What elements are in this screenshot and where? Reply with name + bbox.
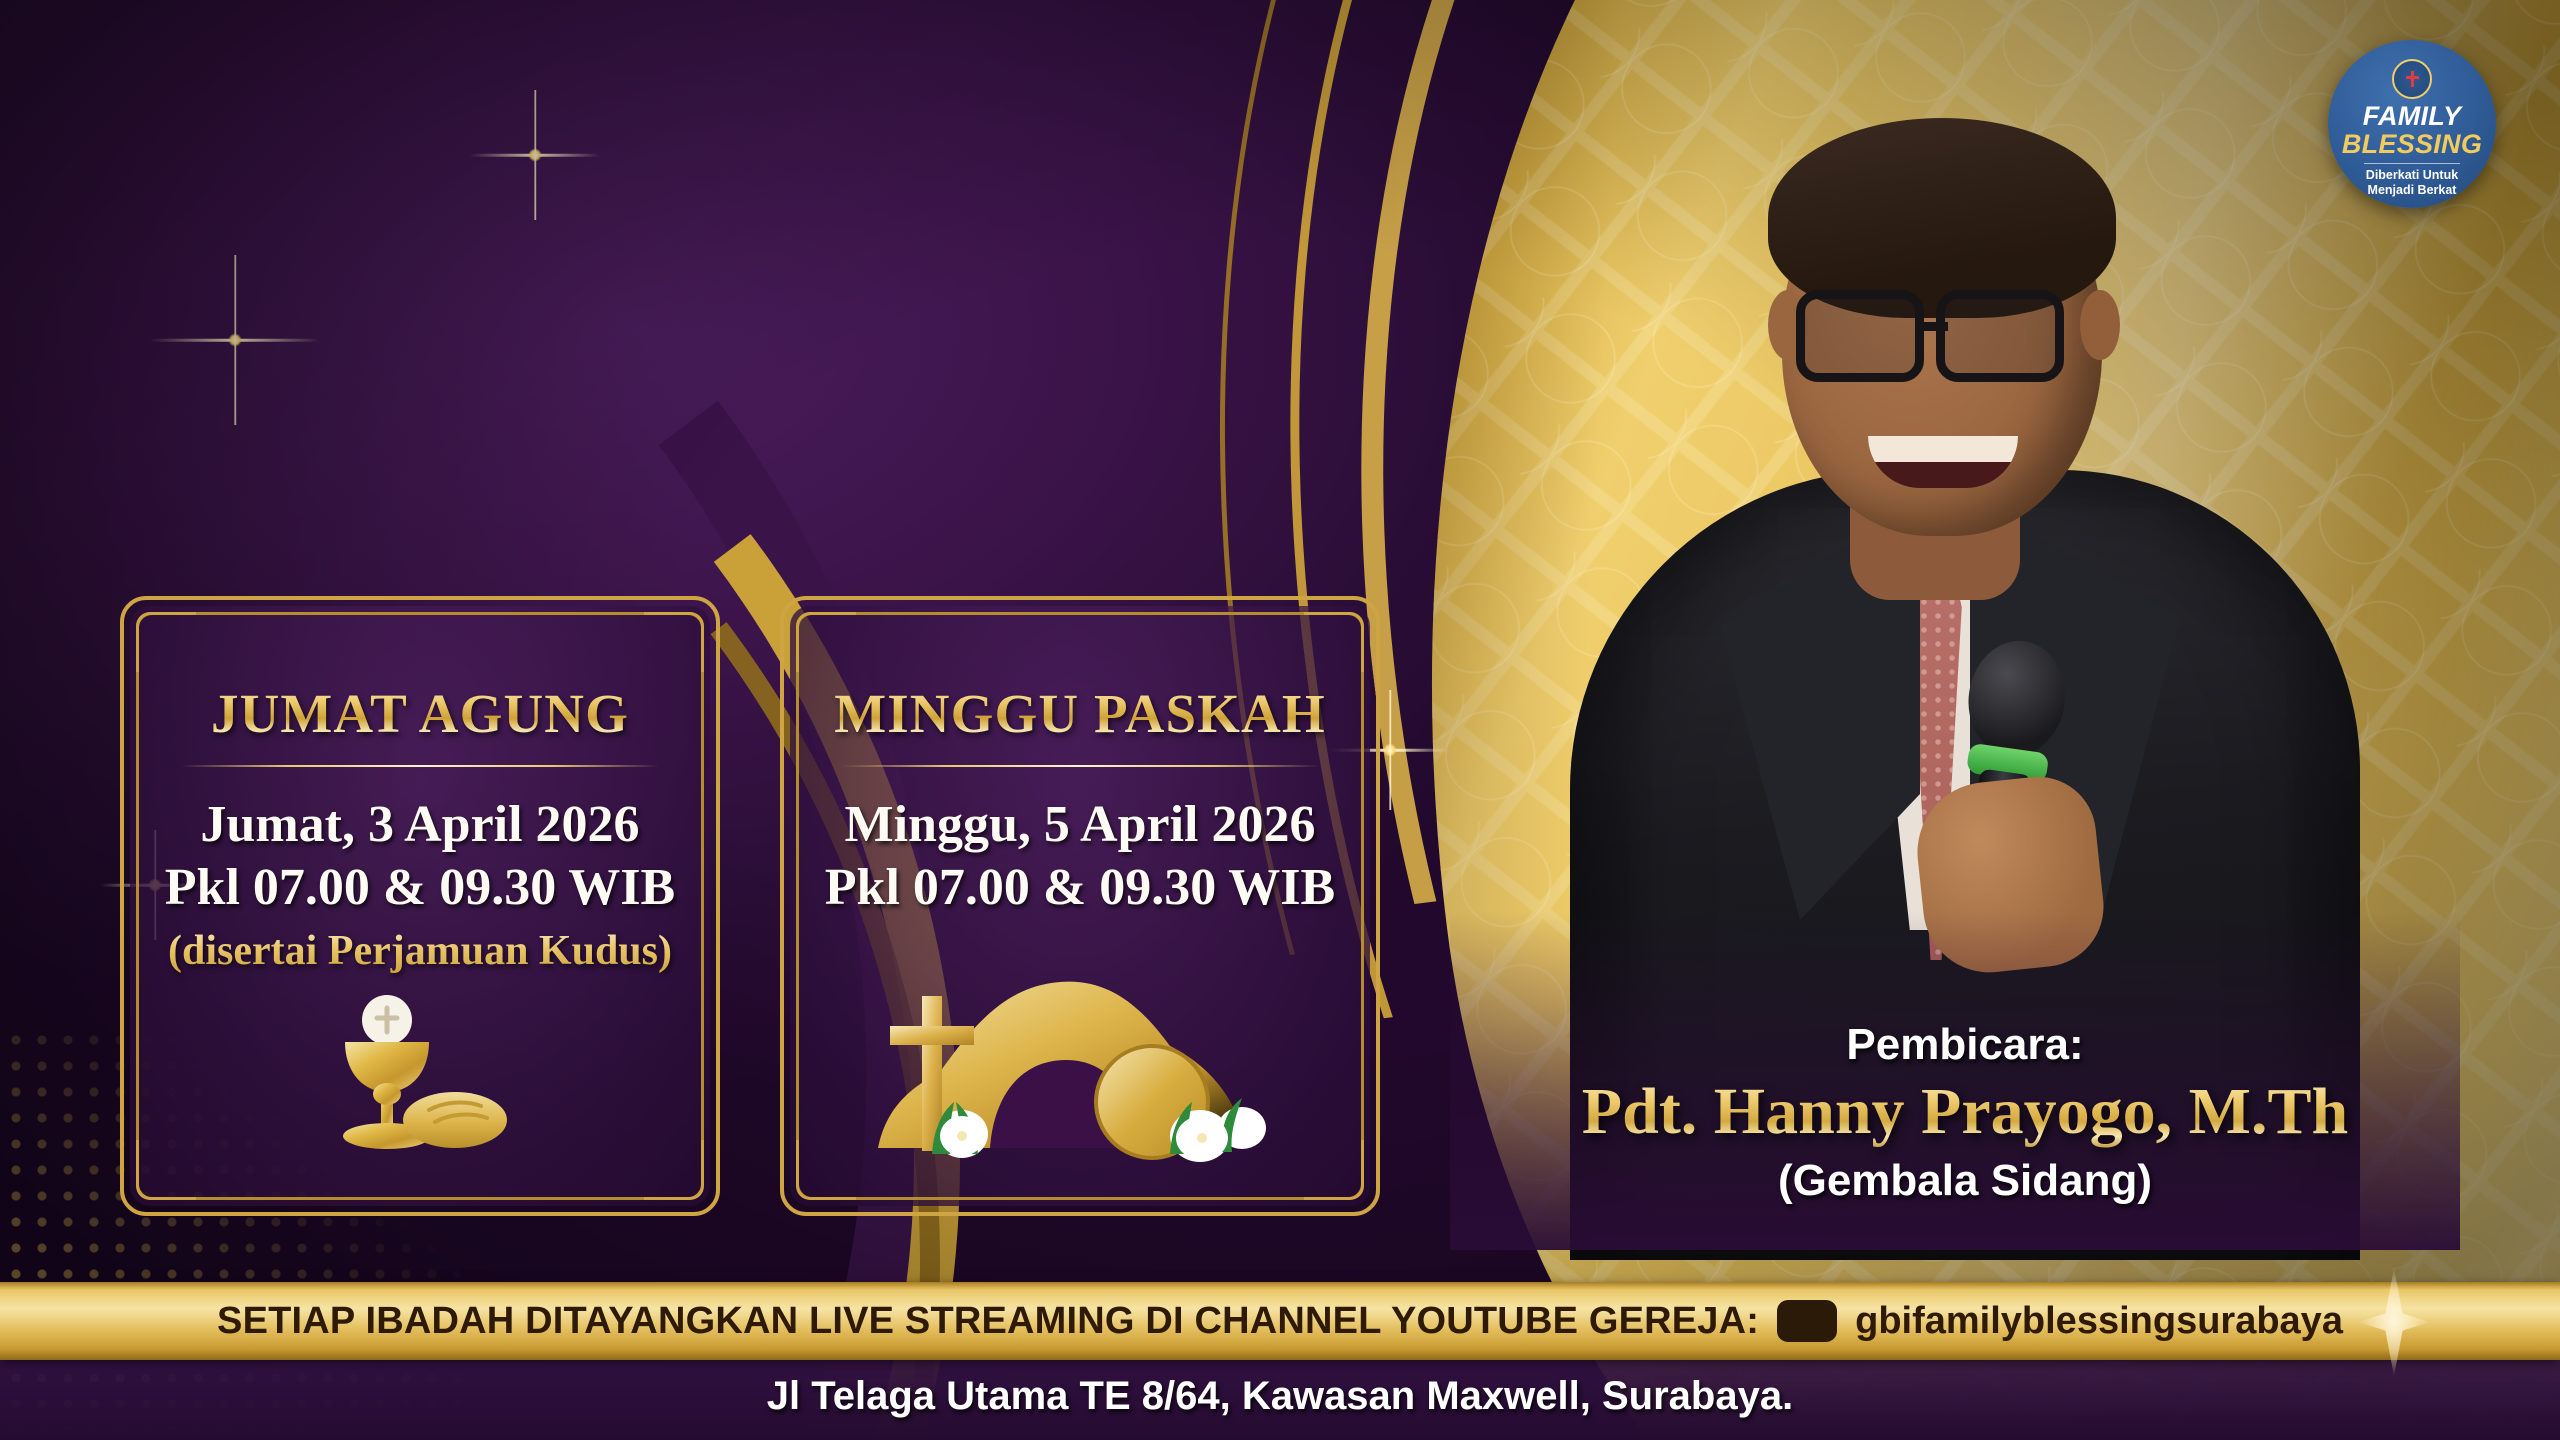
live-streaming-banner: SETIAP IBADAH DITAYANGKAN LIVE STREAMING… [0, 1282, 2560, 1360]
card-divider [181, 765, 659, 767]
service-card-jumat-agung: JUMAT AGUNG Jumat, 3 April 2026 Pkl 07.0… [120, 596, 720, 1216]
card-heading: MINGGU PASKAH [802, 682, 1358, 745]
youtube-handle[interactable]: gbifamilyblessingsurabaya [1855, 1300, 2343, 1343]
card-divider [841, 765, 1319, 767]
church-address: Jl Telaga Utama TE 8/64, Kawasan Maxwell… [0, 1374, 2560, 1419]
title-line-3: MINGGU PASKAH [90, 350, 1420, 501]
card-note: (disertai Perjamuan Kudus) [142, 926, 698, 976]
title-line-1: IBADAH [90, 86, 1420, 217]
logo-tagline-2: Menjadi Berkat [2368, 183, 2457, 198]
sparkle-diamond-icon [2358, 1268, 2430, 1376]
poster-canvas: FAMILY BLESSING Diberkati Untuk Menjadi … [0, 0, 2560, 1440]
logo-line-family: FAMILY [2363, 103, 2462, 130]
card-time: Pkl 07.00 & 09.30 WIB [142, 856, 698, 919]
card-date: Jumat, 3 April 2026 [142, 793, 698, 856]
youtube-play-icon[interactable] [1777, 1300, 1837, 1342]
speaker-label: Pembicara: [1460, 1020, 2470, 1070]
banner-text: SETIAP IBADAH DITAYANGKAN LIVE STREAMING… [217, 1300, 1759, 1343]
card-time: Pkl 07.00 & 09.30 WIB [802, 856, 1358, 919]
poster-title: IBADAH JUMAT AGUNG & MINGGU PASKAH [90, 86, 1420, 500]
logo-divider [2364, 163, 2460, 164]
title-line-2: JUMAT AGUNG & [90, 211, 1420, 362]
card-heading: JUMAT AGUNG [142, 682, 698, 745]
family-blessing-logo: FAMILY BLESSING Diberkati Untuk Menjadi … [2328, 40, 2496, 208]
empty-tomb-cross-icon [802, 968, 1358, 1183]
logo-line-blessing: BLESSING [2342, 130, 2482, 158]
chalice-bread-icon [142, 994, 698, 1169]
service-cards: JUMAT AGUNG Jumat, 3 April 2026 Pkl 07.0… [120, 596, 1380, 1216]
logo-tagline-1: Diberkati Untuk [2366, 168, 2458, 183]
speaker-role: (Gembala Sidang) [1460, 1156, 2470, 1206]
service-card-minggu-paskah: MINGGU PASKAH Minggu, 5 April 2026 Pkl 0… [780, 596, 1380, 1216]
card-date: Minggu, 5 April 2026 [802, 793, 1358, 856]
speaker-name: Pdt. Hanny Prayogo, M.Th [1460, 1074, 2470, 1150]
speaker-info: Pembicara: Pdt. Hanny Prayogo, M.Th (Gem… [1460, 1020, 2470, 1206]
gbi-emblem-icon [2392, 59, 2432, 99]
